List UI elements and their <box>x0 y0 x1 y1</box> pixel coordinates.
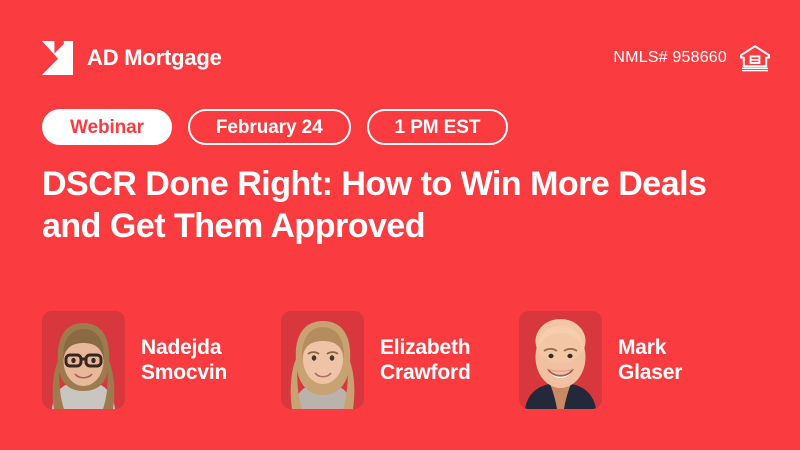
ad-mortgage-arrow-mark-icon <box>42 41 73 75</box>
avatar <box>42 311 125 409</box>
equal-housing-opportunity-icon <box>740 44 770 72</box>
nmls-lockup: NMLS# 958660 <box>613 44 770 72</box>
brand-lockup: AD Mortgage <box>42 41 222 75</box>
speaker-name: Elizabeth Crawford <box>380 335 471 385</box>
speaker-item: Mark Glaser <box>519 311 682 409</box>
speaker-name: Nadejda Smocvin <box>141 335 227 385</box>
brand-name: AD Mortgage <box>87 47 222 69</box>
avatar <box>281 311 364 409</box>
webinar-promo-banner: AD Mortgage NMLS# 958660 Webinar Februar… <box>0 0 800 450</box>
speakers-list: Nadejda Smocvin <box>42 311 772 409</box>
speaker-name: Mark Glaser <box>618 335 682 385</box>
event-meta-pills: Webinar February 24 1 PM EST <box>42 109 508 145</box>
banner-header: AD Mortgage NMLS# 958660 <box>42 36 770 80</box>
speaker-item: Elizabeth Crawford <box>281 311 519 409</box>
pill-webinar[interactable]: Webinar <box>42 109 172 145</box>
speaker-item: Nadejda Smocvin <box>42 311 281 409</box>
pill-date[interactable]: February 24 <box>188 109 351 145</box>
pill-time[interactable]: 1 PM EST <box>367 109 509 145</box>
webinar-title: DSCR Done Right: How to Win More Deals a… <box>42 163 722 247</box>
nmls-number: NMLS# 958660 <box>613 50 727 66</box>
avatar <box>519 311 602 409</box>
